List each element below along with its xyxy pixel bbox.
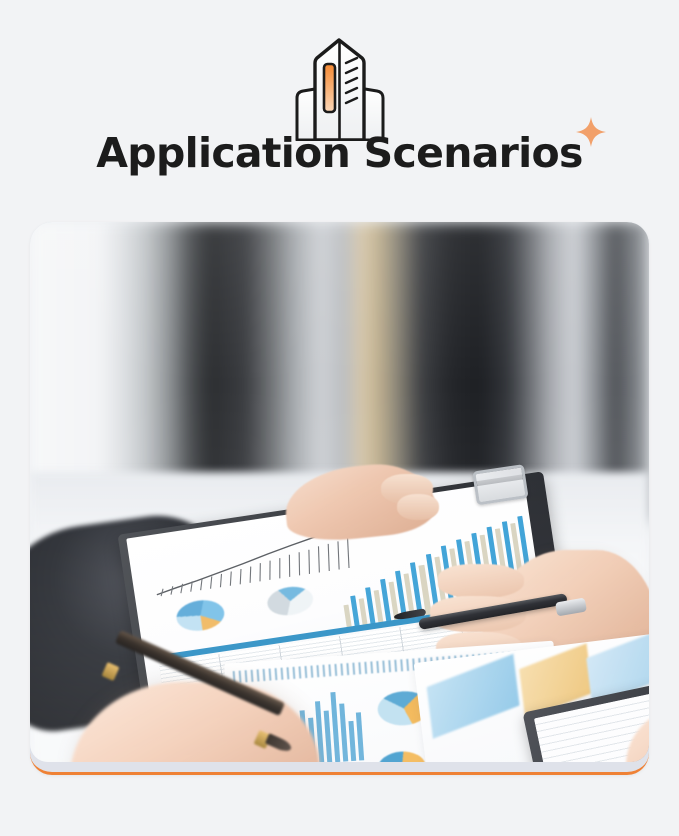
scenario-photo-card: Document Contract [30,222,649,775]
foreground-hand-with-fountain-pen [70,652,330,762]
four-point-sparkle-icon [575,116,607,148]
page-header: Application Scenarios [0,0,679,215]
business-meeting-photo [30,222,649,762]
pie-chart-1 [174,597,226,634]
office-building-icon [275,36,405,141]
pie-chart-2 [265,584,315,618]
title-row: Application Scenarios [0,128,679,178]
page-title: Application Scenarios [96,129,582,177]
hand-holding-clipboard [285,466,435,546]
